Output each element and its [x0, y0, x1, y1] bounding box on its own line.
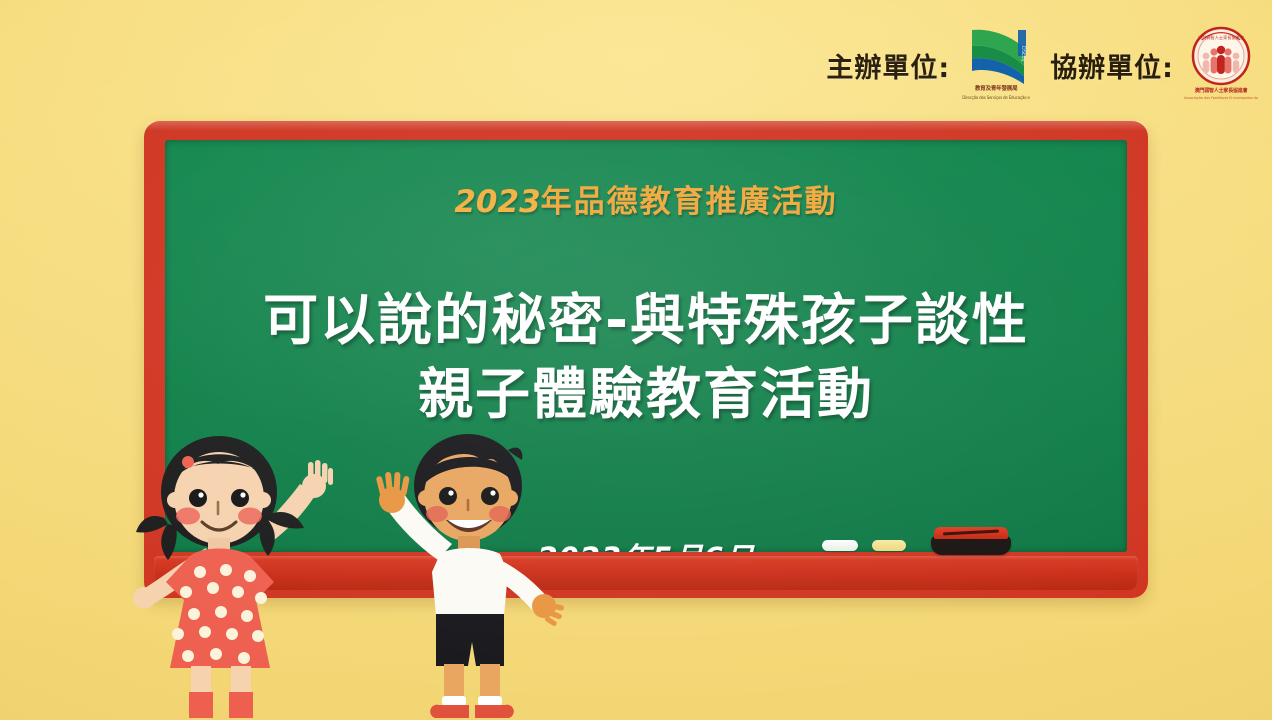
- title-card-screen: 主辦單位: DSEDJ 教育及青年發展局 Direcção dos Serviç…: [0, 0, 1272, 720]
- chalk-yellow-icon: [872, 540, 906, 551]
- girl-character: [128, 420, 378, 720]
- event-subtitle: 2023年品德教育推廣活動: [165, 176, 1127, 221]
- co-organiser-caption-pt: Associação dos Familiares Encarregados d…: [1184, 95, 1258, 102]
- co-organiser-emblem: 澳門弱智人士家長協進會 澳門弱智人士家長協進會 Associação dos F…: [1184, 26, 1258, 104]
- event-subtitle-year: 2023: [454, 184, 540, 220]
- organiser-block: 主辦單位: DSEDJ 教育及青年發展局 Direcção dos Serviç…: [826, 26, 1032, 104]
- svg-text:澳門弱智人士家長協進會: 澳門弱智人士家長協進會: [1198, 34, 1245, 41]
- organiser-label: 主辦單位:: [826, 46, 950, 85]
- chalk-white-icon: [822, 540, 858, 551]
- dsedj-logo-caption-cn: 教育及青年發展局: [962, 85, 1030, 93]
- co-organiser-caption-cn: 澳門弱智人士家長協進會: [1184, 87, 1258, 95]
- event-title: 可以說的秘密-與特殊孩子談性 親子體驗教育活動: [165, 283, 1127, 431]
- header-organisers: 主辦單位: DSEDJ 教育及青年發展局 Direcção dos Serviç…: [826, 26, 1258, 104]
- girl-illustration-icon: [128, 420, 378, 720]
- co-organiser-label: 協辦單位:: [1050, 46, 1174, 85]
- dsedj-logo-caption-pt: Direcção dos Serviços de Educação e de D…: [962, 94, 1030, 101]
- svg-text:DSEDJ: DSEDJ: [1020, 46, 1026, 62]
- dsedj-swoosh-icon: DSEDJ: [960, 26, 1032, 86]
- dsedj-logo: DSEDJ 教育及青年發展局 Direcção dos Serviços de …: [960, 26, 1032, 104]
- co-organiser-block: 協辦單位: 澳門弱智人士家長協進會 澳門弱智人士家長協進會: [1050, 26, 1258, 104]
- event-title-line1: 可以說的秘密-與特殊孩子談性: [165, 283, 1127, 357]
- event-subtitle-rest: 年品德教育推廣活動: [541, 184, 838, 220]
- boy-illustration-icon: [352, 420, 592, 720]
- family-circle-emblem-icon: 澳門弱智人士家長協進會: [1188, 26, 1254, 88]
- blackboard-eraser-icon: [931, 527, 1011, 555]
- boy-character: [352, 420, 592, 720]
